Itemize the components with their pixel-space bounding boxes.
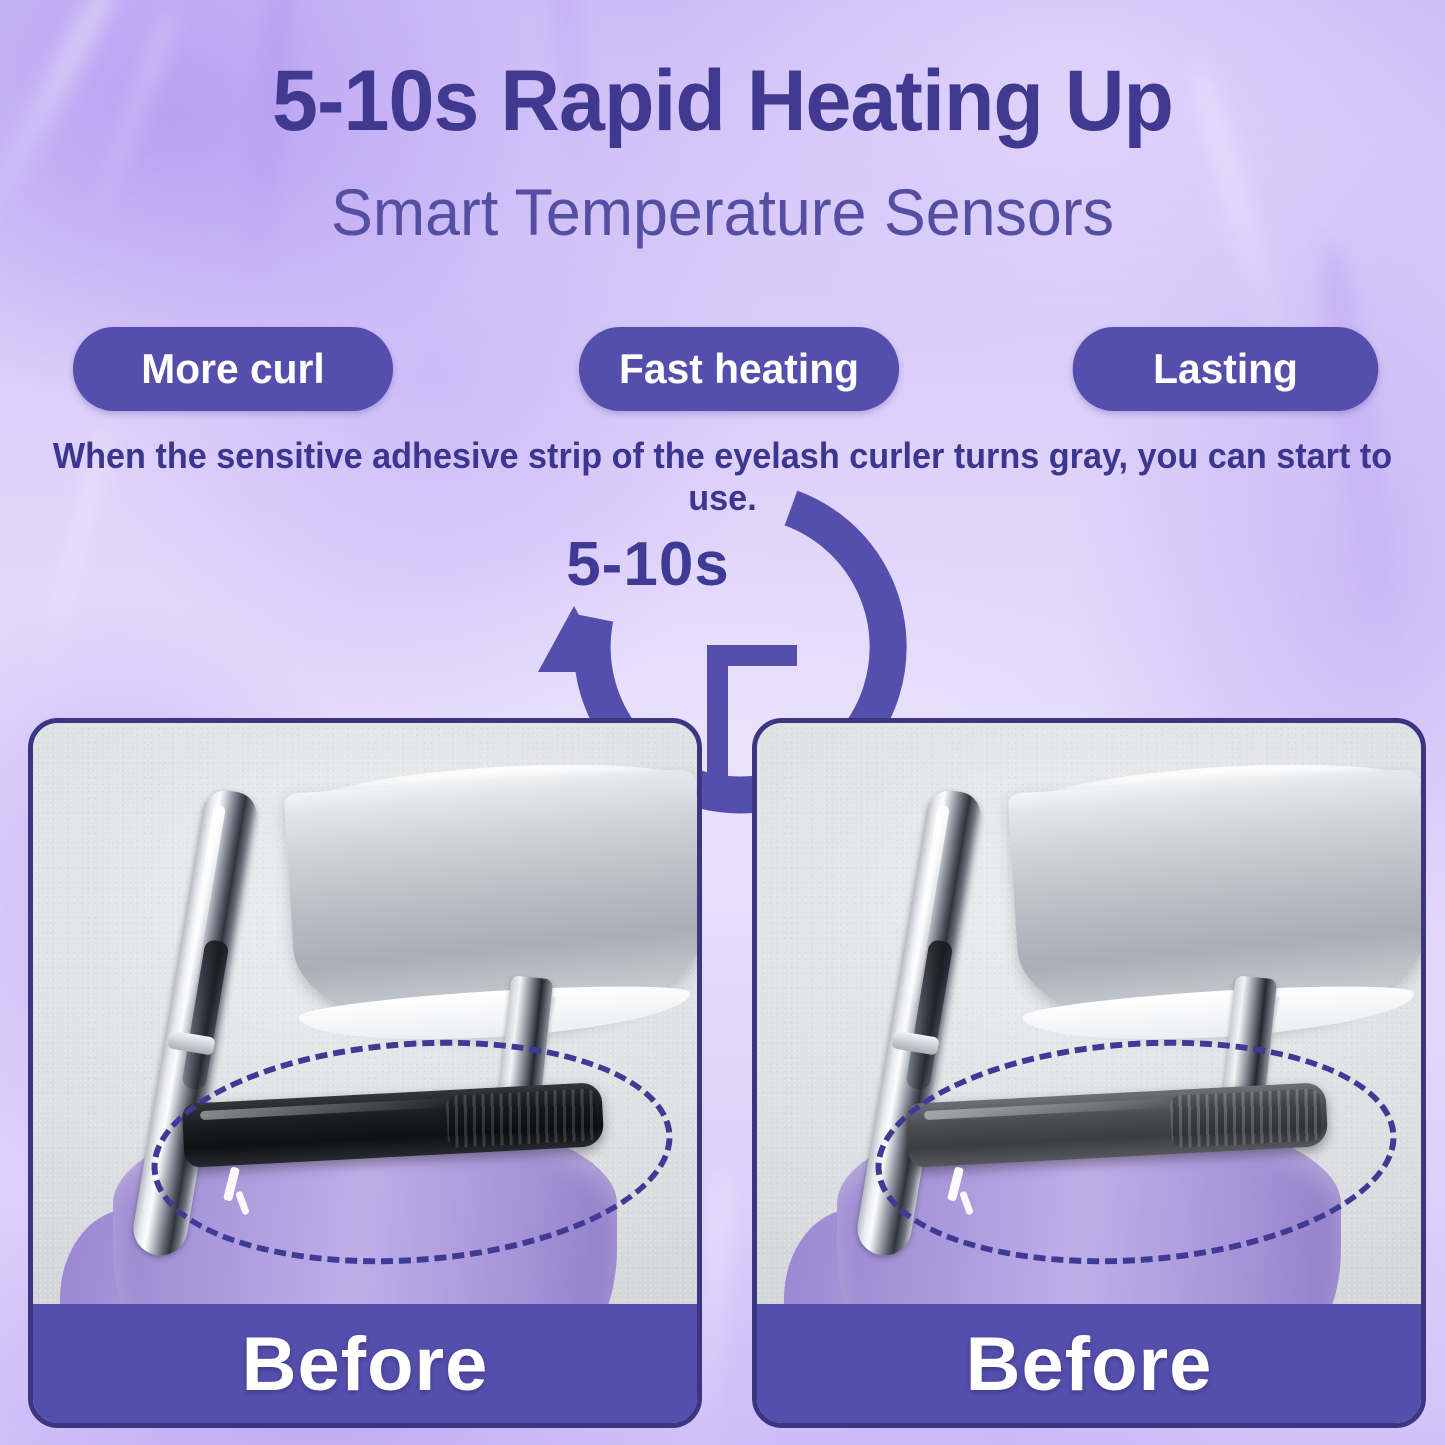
panel-label-bar-left: Before <box>28 1304 702 1428</box>
product-photo-right <box>757 723 1421 1309</box>
panel-before-right: Before <box>752 718 1426 1428</box>
panel-label-bar-right: Before <box>752 1304 1426 1428</box>
panel-label-left: Before <box>242 1321 489 1408</box>
rotate-duration-label: 5-10s <box>498 529 798 600</box>
product-photo-left <box>33 723 697 1309</box>
feature-pill-more-curl[interactable]: More curl <box>73 327 393 411</box>
page-headline: 5-10s Rapid Heating Up <box>29 56 1416 146</box>
feature-pill-fast-heating[interactable]: Fast heating <box>579 327 899 411</box>
page-subheadline: Smart Temperature Sensors <box>36 178 1409 247</box>
feature-pill-group: More curl Fast heating Lasting <box>68 327 1383 411</box>
product-infographic: 5-10s Rapid Heating Up Smart Temperature… <box>0 0 1445 1445</box>
feature-pill-lasting[interactable]: Lasting <box>1073 327 1379 411</box>
panel-before-left: Before <box>28 718 702 1428</box>
panel-label-right: Before <box>966 1321 1213 1408</box>
